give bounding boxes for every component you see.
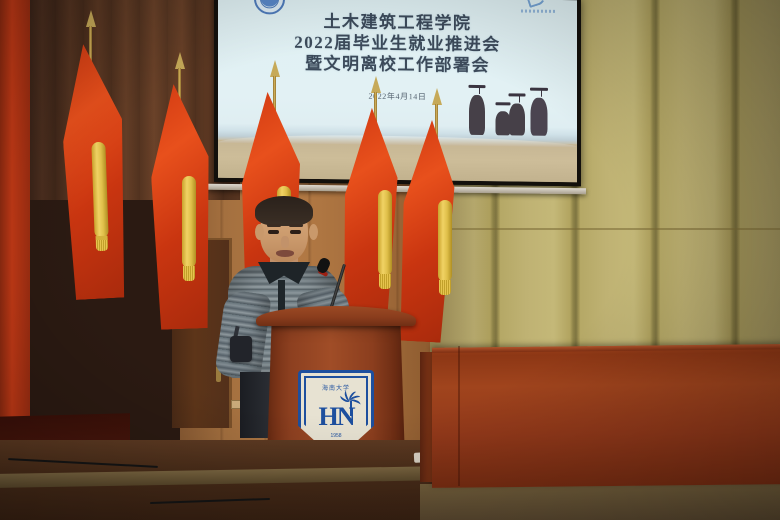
lower-floor: [420, 484, 780, 520]
speaker-nose: [281, 236, 289, 248]
speaker-ear: [309, 224, 318, 240]
speaker-eyebrow: [267, 224, 281, 227]
flag-finial-icon: [270, 60, 280, 77]
institute-swoosh-logo-icon: [521, 0, 555, 14]
flag-tassel: [378, 190, 392, 276]
emblem-chinese-name: 海南大学: [298, 383, 374, 392]
foreground-railing: [432, 344, 780, 488]
flag-finial-icon: [175, 52, 185, 69]
auditorium-photo: 土木建筑工程学院 2022届毕业生就业推进会 暨文明离校工作部署会 2022年4…: [0, 0, 780, 520]
speaker-eye: [290, 230, 301, 234]
speaker-hair: [255, 196, 313, 226]
flag-finial-icon: [86, 10, 96, 27]
emblem-year: 1958: [298, 433, 374, 439]
speaker-eye: [268, 230, 279, 234]
emblem-letters: HN: [298, 404, 374, 430]
speaker-mouth: [276, 250, 294, 257]
flag-finial-icon: [432, 88, 442, 105]
wall-panel-seam: [420, 228, 780, 230]
left-curtain: [0, 0, 30, 470]
railing-seam: [458, 346, 460, 486]
flag-tassel: [182, 176, 196, 268]
graduates-illustration: [477, 73, 561, 136]
speaker-ear: [255, 224, 264, 240]
flag-finial-icon: [371, 76, 381, 93]
speaker-belt-bag: [230, 336, 252, 362]
flag-tassel: [438, 200, 452, 282]
speaker-eyebrow: [289, 224, 303, 227]
